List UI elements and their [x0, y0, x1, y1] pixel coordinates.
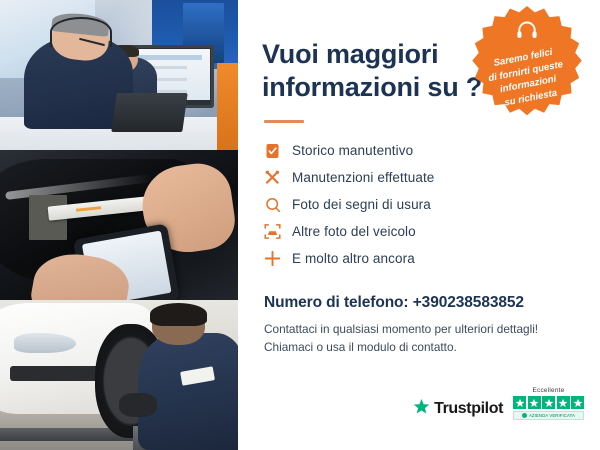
- phone-number-line: Numero di telefono: +390238583852: [264, 294, 578, 312]
- title-underline-rule: [264, 120, 304, 123]
- headset-icon: [516, 20, 538, 45]
- laptop: [111, 93, 188, 132]
- orange-accent-panel: [217, 63, 238, 150]
- star-icon: [557, 396, 570, 409]
- photo-column: [0, 0, 238, 450]
- star-icon: [528, 396, 541, 409]
- list-item-molto-altro: E molto altro ancora: [264, 245, 578, 272]
- verified-check-icon: [522, 413, 527, 418]
- contact-subtext: Contattaci in qualsiasi momento per ulte…: [264, 321, 578, 356]
- trustpilot-brand: Trustpilot: [413, 398, 503, 420]
- list-item-foto-segni-usura: Foto dei segni di usura: [264, 191, 578, 218]
- verified-label: AZIENDA VERIFICATA: [529, 413, 575, 418]
- list-item-label: Foto dei segni di usura: [292, 197, 431, 212]
- verified-company-badge: AZIENDA VERIFICATA: [513, 411, 584, 420]
- contact-subtext-line-1: Contattaci in qualsiasi momento per ulte…: [264, 322, 538, 336]
- list-item-altre-foto-veicolo: Altre foto del veicolo: [264, 218, 578, 245]
- mechanic-hair: [150, 303, 207, 326]
- list-item-manutenzioni-effettuate: Manutenzioni effettuate: [264, 164, 578, 191]
- trustpilot-name: Trustpilot: [434, 400, 503, 418]
- feature-list: Storico manutentivo Manutenzioni effettu…: [264, 137, 578, 272]
- headset-band: [50, 17, 112, 47]
- checklist-icon: [264, 142, 281, 159]
- promo-banner: Vuoi maggiori informazioni su ? Storico …: [0, 0, 600, 450]
- star-icon: [571, 396, 584, 409]
- tools-icon: [264, 169, 281, 186]
- mechanic-torso: [138, 333, 238, 450]
- star-icon: [413, 398, 430, 420]
- trustpilot-widget[interactable]: Trustpilot Eccellente: [413, 387, 584, 420]
- trustpilot-stars: [513, 396, 584, 409]
- info-on-request-badge: Saremo felici di fornirti queste informa…: [470, 4, 584, 118]
- mechanic-glove: [119, 393, 157, 417]
- list-item-storico-manutentivo: Storico manutentivo: [264, 137, 578, 164]
- photo-call-center-agents-with-headsets: [0, 0, 238, 150]
- star-icon: [542, 396, 555, 409]
- trustpilot-rating: Eccellente: [513, 387, 584, 420]
- photo-mechanic-checking-tyre-on-lift: [0, 300, 238, 450]
- phone-number[interactable]: +390238583852: [413, 294, 524, 311]
- search-icon: [264, 196, 281, 213]
- headlight: [14, 333, 76, 353]
- list-item-label: Altre foto del veicolo: [292, 224, 416, 239]
- contact-subtext-line-2: Chiamaci o usa il modulo di contatto.: [264, 340, 457, 354]
- plus-icon: [264, 250, 281, 267]
- star-icon: [513, 396, 526, 409]
- list-item-label: Storico manutentivo: [292, 143, 413, 158]
- trustpilot-rating-label: Eccellente: [533, 387, 565, 394]
- content-panel: Vuoi maggiori informazioni su ? Storico …: [238, 0, 600, 450]
- phone-label: Numero di telefono:: [264, 294, 409, 311]
- photo-vehicle-damage-inspection-with-tablet: [0, 150, 238, 300]
- car-scan-icon: [264, 223, 281, 240]
- list-item-label: Manutenzioni effettuate: [292, 170, 434, 185]
- list-item-label: E molto altro ancora: [292, 251, 415, 266]
